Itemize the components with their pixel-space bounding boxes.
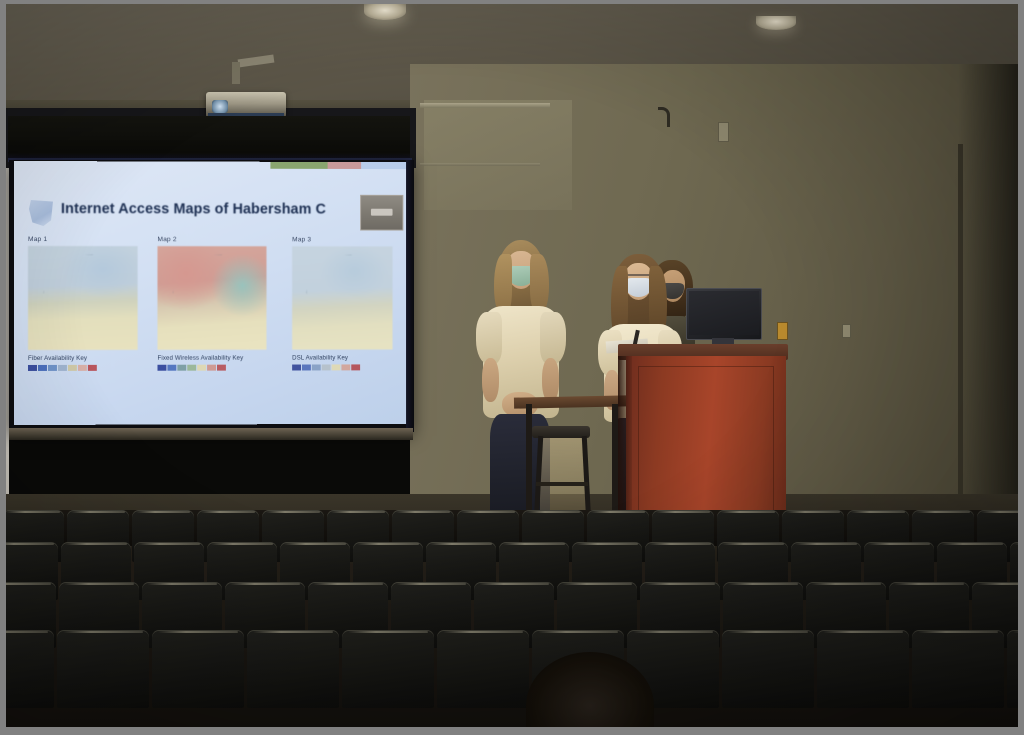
legend-swatch [302,365,311,371]
legend-title: Fixed Wireless Availability Key [157,355,266,362]
light-switch[interactable] [777,322,788,340]
door-frame [958,144,963,494]
legend-title: Fiber Availability Key [28,355,138,362]
arm [542,358,559,402]
auditorium-seat [437,630,529,708]
monitor-screen [689,291,759,335]
wall-outlet [842,324,851,338]
hair-strand [530,254,549,314]
map-label: Map 2 [157,236,266,243]
sleeve [476,312,502,364]
slide-overlay-box-glyph [371,209,393,216]
sleeve [540,312,566,364]
legend-swatch [322,364,331,370]
legend-swatch [28,365,37,371]
county-outline [306,255,378,338]
legend-swatch [332,364,341,370]
legend-swatch [351,364,360,370]
projection-screen: Internet Access Maps of Habersham C Map … [9,160,413,432]
auditorium-seat [722,630,814,708]
podium-panel [638,366,774,512]
legend-swatch [157,365,166,371]
screen-valance [8,116,410,162]
auditorium-seat [342,630,434,708]
projector-arm [232,62,240,84]
legend-swatch [312,364,321,370]
legend-swatches [292,364,392,370]
wall-shadow [958,64,1018,524]
map-image [292,246,392,349]
county-outline [173,254,251,337]
stool-rung [536,482,588,486]
lecture-hall-scene: Internet Access Maps of Habersham C Map … [6,4,1018,727]
table-leg [526,404,532,514]
accent-segment-green [270,162,327,169]
auditorium-seat [912,630,1004,708]
map-block: Map 3 DSL Availability Key [292,236,392,370]
stool-back [540,438,586,510]
auditorium-seat [57,630,149,708]
legend-swatch [197,365,206,371]
slide-logo-icon [29,200,53,226]
auditorium-seat [152,630,244,708]
seat-row [6,630,1018,708]
legend-swatch [88,365,97,371]
legend-swatches [28,365,138,371]
ceiling-light-icon [756,16,796,30]
slide-title: Internet Access Maps of Habersham C [61,201,378,218]
whiteboard [424,100,572,210]
legend-swatches [157,365,266,371]
legend-swatch [167,365,176,371]
presentation-slide: Internet Access Maps of Habersham C Map … [14,161,406,425]
map-image [28,246,138,350]
auditorium-seat [817,630,909,708]
legend-title: DSL Availability Key [292,354,392,361]
projector-lens-icon [212,100,228,113]
wall-rail [420,163,540,166]
cable-hook-icon [658,107,670,127]
legend-swatch [187,365,196,371]
auditorium-seat [247,630,339,708]
legend-swatch [58,365,67,371]
podium-shadow [618,356,632,524]
legend-swatch [78,365,87,371]
auditorium-seat [6,630,54,708]
map-block: Map 2 Fixed Wireless Availability Key [157,236,266,371]
legend-swatch [217,365,226,371]
county-outline [43,254,122,337]
legend-swatch [177,365,186,371]
frame-edge-right [1018,0,1024,735]
arm [482,358,499,402]
wall-outlet [718,122,729,142]
map-image [157,246,266,350]
legend-swatch [207,365,216,371]
screen-bottom-bar [9,428,413,440]
photograph: Internet Access Maps of Habersham C Map … [6,4,1018,727]
map-label: Map 3 [292,236,392,243]
accent-segment-blue [361,162,406,169]
screen-right-edge [406,160,414,432]
frame-edge-bottom [0,727,1024,735]
accent-segment-pink [328,162,361,169]
legend-swatch [292,365,301,371]
legend-swatch [341,364,350,370]
auditorium-seat [1007,630,1018,708]
legend-swatch [68,365,77,371]
ceiling-light-icon [364,4,406,20]
legend-swatch [38,365,47,371]
slide-accent-bar [270,162,406,169]
map-block: Map 1 Fiber Availability Key [28,236,138,371]
legend-swatch [48,365,57,371]
wall-rail [420,103,550,108]
map-label: Map 1 [28,236,138,243]
photo-frame: Internet Access Maps of Habersham C Map … [0,0,1024,735]
